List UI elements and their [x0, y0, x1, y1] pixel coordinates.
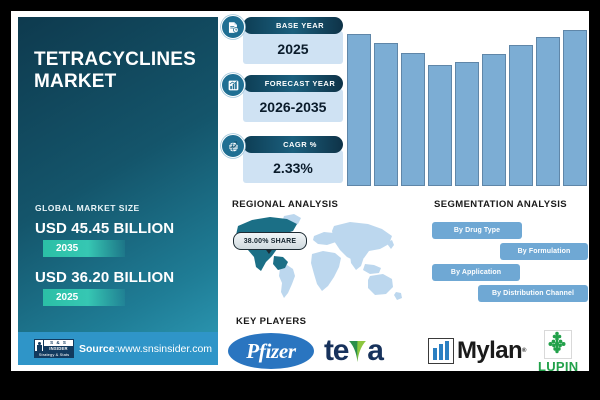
chart-bar	[509, 45, 533, 186]
kpi-value: 2.33%	[243, 150, 343, 183]
chart-bar	[455, 62, 479, 186]
document-report-icon	[221, 15, 245, 39]
mylan-logo: Mylan®	[428, 330, 526, 372]
global-market-size-label: GLOBAL MARKET SIZE	[35, 203, 140, 213]
title-line-1: TETRACYCLINES	[34, 49, 212, 71]
lupin-logo-text: LUPIN	[538, 360, 579, 373]
market-trend-bar-chart	[347, 22, 587, 186]
snsinsider-logo-icon: S & S INSIDER Strategy & Stats	[34, 339, 74, 358]
pfizer-logo-text: Pfizer	[246, 339, 296, 364]
base-market-value: USD 36.20 BILLION	[35, 269, 174, 286]
infographic-canvas: TETRACYCLINES MARKET GLOBAL MARKET SIZE …	[0, 0, 600, 400]
segment-pill-distribution-channel[interactable]: By Distribution Channel	[478, 285, 588, 302]
lupin-logo: LUPIN	[538, 330, 579, 372]
teva-logo-text-before: te	[324, 334, 348, 367]
teva-leaf-icon	[348, 340, 367, 364]
page-title: TETRACYCLINES MARKET	[34, 49, 212, 93]
chart-bar	[347, 34, 371, 186]
kpi-header: CAGR %	[243, 136, 343, 153]
chart-bar	[536, 37, 560, 186]
key-players-heading: KEY PLAYERS	[236, 316, 306, 327]
base-year-chip: 2025	[43, 289, 125, 306]
logo-tagline: Strategy & Stats	[34, 352, 74, 358]
kpi-card-base-year: BASE YEAR 2025	[243, 17, 343, 64]
logo-person-icon	[34, 339, 44, 352]
chart-bar	[401, 53, 425, 186]
forecast-year-chip: 2035	[43, 240, 125, 257]
kpi-card-forecast-year: FORECAST YEAR 2026-2035	[243, 75, 343, 122]
title-line-2: MARKET	[34, 71, 212, 93]
teva-logo: tea	[324, 330, 383, 372]
growth-globe-icon	[221, 134, 245, 158]
teva-logo-text-after: a	[367, 334, 383, 367]
source-bar: S & S INSIDER Strategy & Stats Source:ww…	[18, 332, 218, 365]
source-attribution[interactable]: Source:www.snsinsider.com	[79, 343, 212, 355]
kpi-header: BASE YEAR	[243, 17, 343, 34]
kpi-label: FORECAST YEAR	[265, 79, 336, 88]
chart-bar	[374, 43, 398, 186]
chart-bar	[482, 54, 506, 186]
regional-analysis-heading: REGIONAL ANALYSIS	[232, 199, 338, 210]
segment-pill-formulation[interactable]: By Formulation	[500, 243, 588, 260]
kpi-value: 2025	[243, 31, 343, 64]
segment-pill-application[interactable]: By Application	[432, 264, 520, 281]
kpi-header: FORECAST YEAR	[243, 75, 343, 92]
lupin-plant-icon	[544, 330, 572, 359]
chart-bar	[428, 65, 452, 186]
mylan-trademark-symbol: ®	[522, 348, 526, 354]
segment-pill-drug-type[interactable]: By Drug Type	[432, 222, 522, 239]
chart-bar	[563, 30, 587, 186]
segmentation-analysis-heading: SEGMENTATION ANALYSIS	[434, 199, 567, 210]
mylan-logo-text: Mylan	[457, 337, 522, 365]
bar-chart-icon	[221, 73, 245, 97]
key-players-logos: Pfizer tea Mylan®	[228, 330, 588, 372]
share-callout-badge: 38.00% SHARE	[233, 232, 307, 250]
forecast-market-value: USD 45.45 BILLION	[35, 220, 174, 237]
world-map-svg	[228, 212, 408, 310]
mylan-bars-icon	[428, 338, 454, 364]
pfizer-logo: Pfizer	[228, 330, 314, 372]
kpi-label: CAGR %	[283, 140, 317, 149]
source-url: :www.snsinsider.com	[115, 343, 212, 355]
kpi-label: BASE YEAR	[276, 21, 324, 30]
source-prefix: Source	[79, 343, 115, 355]
kpi-card-cagr: CAGR % 2.33%	[243, 136, 343, 183]
world-map: 38.00% SHARE	[228, 212, 408, 310]
kpi-value: 2026-2035	[243, 89, 343, 122]
title-panel: TETRACYCLINES MARKET GLOBAL MARKET SIZE …	[18, 17, 218, 365]
